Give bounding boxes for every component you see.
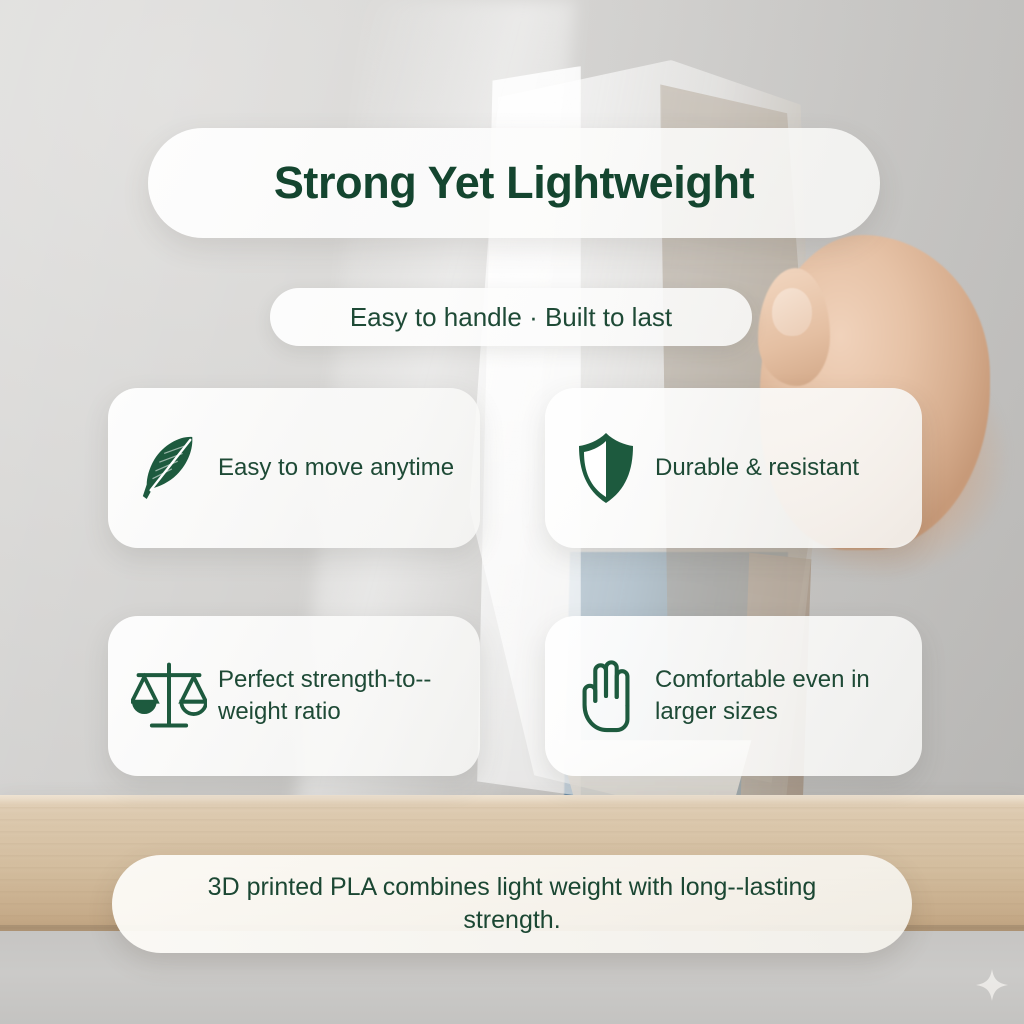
shield-icon <box>567 423 645 513</box>
feature-card-label: Durable & resistant <box>655 452 859 484</box>
sparkle-icon <box>975 968 1009 1002</box>
feature-card-durable[interactable]: Durable & resistant <box>545 388 922 548</box>
hand-icon <box>567 651 645 741</box>
feature-card-label: Easy to move anytime <box>218 452 454 484</box>
scales-icon <box>130 651 208 741</box>
footer-banner: 3D printed PLA combines light weight wit… <box>112 855 912 953</box>
footer-text: 3D printed PLA combines light weight wit… <box>162 871 862 938</box>
poster-canvas: Strong Yet Lightweight Easy to handle · … <box>0 0 1024 1024</box>
feather-icon <box>130 423 208 513</box>
feature-card-easy-to-move[interactable]: Easy to move anytime <box>108 388 480 548</box>
feature-card-label: Comfortable even in larger sizes <box>655 664 900 727</box>
feature-card-strength-to-weight[interactable]: Perfect strength-to--weight ratio <box>108 616 480 776</box>
feature-card-comfortable[interactable]: Comfortable even in larger sizes <box>545 616 922 776</box>
feature-card-label: Perfect strength-to--weight ratio <box>218 664 458 727</box>
